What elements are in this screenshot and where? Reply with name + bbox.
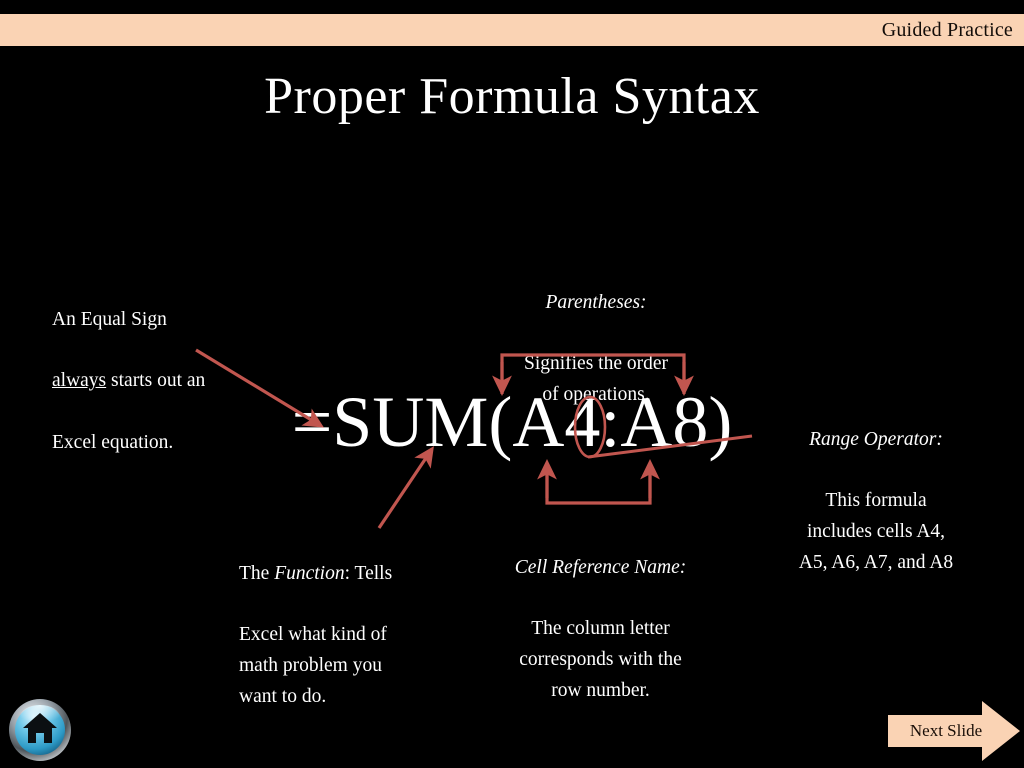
annotation-equal-sign-emphasis: always [52,370,106,391]
annotation-equal-sign-line1: An Equal Sign [52,309,167,330]
home-button[interactable] [7,697,73,763]
annotation-cell-reference-body: The column letter corresponds with the r… [519,618,681,701]
annotation-function-heading: Function [274,563,344,584]
annotation-function-suffix: : Tells [345,563,393,584]
arrow-to-function [379,452,430,528]
annotation-equal-sign-line3: Excel equation. [52,432,173,453]
home-icon[interactable] [7,697,73,763]
annotation-cell-reference-heading: Cell Reference Name: [515,557,686,578]
annotation-parentheses-body: Signifies the order of operations. [524,353,668,405]
annotation-range-operator-body: This formula includes cells A4, A5, A6, … [799,490,953,573]
next-slide-button[interactable]: Next Slide [886,699,1022,763]
header-band: Guided Practice [0,14,1024,46]
bracket-cell-references [547,463,650,503]
annotation-equal-sign: An Equal Sign always starts out an Excel… [52,274,302,459]
annotation-range-operator-heading: Range Operator: [809,429,943,450]
annotation-function-body: Excel what kind of math problem you want… [239,624,387,707]
annotation-cell-reference: Cell Reference Name: The column letter c… [478,522,723,707]
annotation-range-operator: Range Operator: This formula includes ce… [730,394,1022,579]
page-title: Proper Formula Syntax [0,68,1024,125]
header-section-label: Guided Practice [882,20,1013,40]
slide-canvas: Guided Practice Proper Formula Syntax =S… [0,0,1024,768]
annotation-parentheses: Parentheses: Signifies the order of oper… [466,257,726,411]
annotation-equal-sign-line2-rest: starts out an [106,370,205,391]
next-slide-label: Next Slide [900,699,992,763]
annotation-function-prefix: The [239,563,274,584]
annotation-parentheses-heading: Parentheses: [545,292,646,313]
annotation-function: The Function: Tells Excel what kind of m… [239,528,469,713]
